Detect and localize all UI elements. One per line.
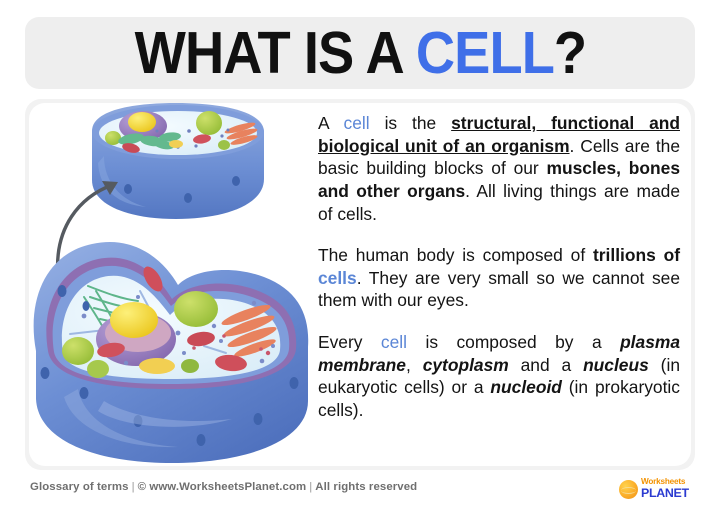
p3-s3: , (406, 355, 423, 375)
body-text: A cell is the structural, functional and… (318, 112, 680, 422)
footer-separator: | (129, 481, 138, 493)
p2-s1: The human body is composed of (318, 245, 593, 265)
p3-s2: is composed by a (407, 332, 620, 352)
p2-trillions: trillions of (593, 245, 680, 265)
footer-rights: All rights reserved (315, 481, 417, 493)
page-title: WHAT IS A CELL? (134, 24, 586, 83)
p3-term-nucleus: nucleus (583, 355, 649, 375)
paragraph-1: A cell is the structural, functional and… (318, 112, 680, 225)
globe-icon (619, 480, 638, 499)
p2-term-cells: cells (318, 268, 357, 288)
logo-wordmark: Worksheets PLANET (641, 478, 689, 500)
p3-term-nucleoid: nucleoid (490, 377, 562, 397)
page-title-suffix: ? (554, 20, 586, 86)
paragraph-3: Every cell is composed by a plasma membr… (318, 331, 680, 422)
footer-separator: | (306, 481, 315, 493)
footer-glossary: Glossary of terms (30, 481, 129, 493)
paragraph-2: The human body is composed of trillions … (318, 244, 680, 312)
logo-top-text: Worksheets (641, 478, 689, 486)
footer-copyright[interactable]: © www.WorksheetsPlanet.com (138, 481, 307, 493)
p2-s2: . They are very small so we cannot see t… (318, 268, 680, 311)
title-panel: WHAT IS A CELL? (25, 17, 695, 89)
p1-term-cell: cell (344, 113, 370, 133)
p3-term-cell: cell (381, 332, 407, 352)
logo-bottom-text: PLANET (641, 487, 689, 499)
p3-term-cytoplasm: cytoplasm (423, 355, 509, 375)
worksheets-planet-logo[interactable]: Worksheets PLANET (619, 477, 697, 501)
footer-credit: Glossary of terms|© www.WorksheetsPlanet… (30, 481, 417, 493)
p1-s2: is the (370, 113, 451, 133)
page-title-accent: CELL (415, 20, 553, 86)
page-title-plain: WHAT IS A (134, 20, 415, 86)
p1-s1: A (318, 113, 344, 133)
p3-s1: Every (318, 332, 381, 352)
p3-s4: and a (509, 355, 583, 375)
